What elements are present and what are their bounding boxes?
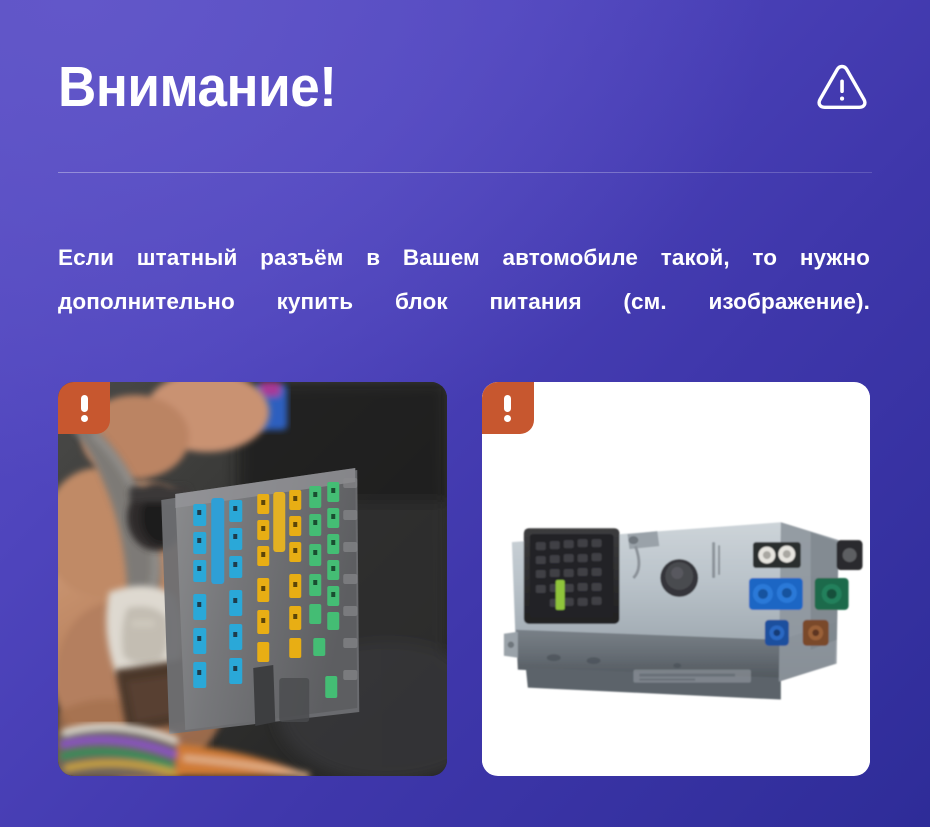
connector-photo-card[interactable] — [58, 382, 447, 776]
car-wiring-connector-photo — [58, 382, 447, 776]
exclamation-badge-icon — [58, 382, 110, 434]
warning-triangle-icon — [814, 59, 870, 115]
exclamation-badge-icon — [482, 382, 534, 434]
warning-notice-page: Внимание! Если штатный разъём в Вашем ав… — [0, 0, 930, 827]
power-supply-photo-card[interactable] — [482, 382, 871, 776]
page-title: Внимание! — [58, 55, 336, 119]
car-power-supply-photo — [482, 382, 871, 776]
body-text: Если штатный разъём в Вашем автомобиле т… — [58, 236, 870, 368]
header-divider — [58, 172, 872, 173]
photo-cards-row — [58, 382, 870, 776]
header: Внимание! — [58, 52, 872, 122]
